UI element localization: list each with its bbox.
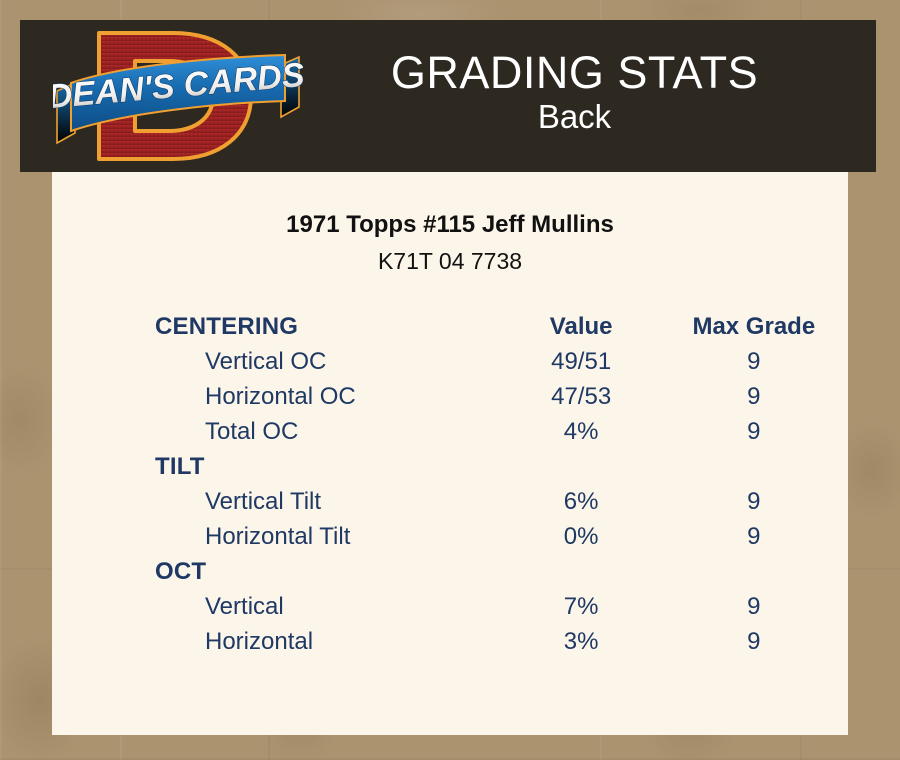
stat-max-grade: 9 — [660, 484, 848, 519]
stat-label: Vertical — [52, 589, 503, 624]
stat-value: 0% — [503, 519, 660, 554]
card-serial-number: K71T 04 7738 — [52, 248, 848, 275]
stat-value: 7% — [503, 589, 660, 624]
content-panel: 1971 Topps #115 Jeff Mullins K71T 04 773… — [52, 172, 848, 735]
section-header-row: OCT — [52, 554, 848, 589]
header-bar: DEAN'S CARDS GRADING STATS Back — [20, 20, 876, 172]
stat-value: 4% — [503, 414, 660, 449]
stat-label: Vertical Tilt — [52, 484, 503, 519]
column-header-value: Value — [503, 309, 660, 344]
table-row: Horizontal OC47/539 — [52, 379, 848, 414]
stat-value: 3% — [503, 624, 660, 659]
stat-label: Horizontal — [52, 624, 503, 659]
section-title: CENTERING — [52, 309, 503, 344]
table-row: Vertical Tilt6%9 — [52, 484, 848, 519]
stat-max-grade: 9 — [660, 379, 848, 414]
stat-label: Vertical OC — [52, 344, 503, 379]
grading-stats-table: CENTERINGValueMax GradeVertical OC49/519… — [52, 309, 848, 659]
stat-max-grade: 9 — [660, 589, 848, 624]
header-title-block: GRADING STATS Back — [303, 49, 876, 143]
table-row: Total OC4%9 — [52, 414, 848, 449]
stat-max-grade: 9 — [660, 414, 848, 449]
stat-label: Horizontal Tilt — [52, 519, 503, 554]
table-row: Horizontal Tilt0%9 — [52, 519, 848, 554]
section-title: OCT — [52, 554, 503, 589]
section-spacer-value — [503, 554, 660, 589]
section-spacer-grade — [660, 554, 848, 589]
section-header-row: CENTERINGValueMax Grade — [52, 309, 848, 344]
table-row: Horizontal3%9 — [52, 624, 848, 659]
stat-value: 6% — [503, 484, 660, 519]
stat-max-grade: 9 — [660, 344, 848, 379]
stat-value: 47/53 — [503, 379, 660, 414]
card-title: 1971 Topps #115 Jeff Mullins — [52, 211, 848, 239]
table-row: Vertical OC49/519 — [52, 344, 848, 379]
section-spacer-value — [503, 449, 660, 484]
stat-value: 49/51 — [503, 344, 660, 379]
page-title: GRADING STATS — [303, 49, 846, 96]
section-title: TILT — [52, 449, 503, 484]
page-subtitle: Back — [303, 96, 846, 139]
stat-max-grade: 9 — [660, 624, 848, 659]
table-row: Vertical7%9 — [52, 589, 848, 624]
section-spacer-grade — [660, 449, 848, 484]
section-header-row: TILT — [52, 449, 848, 484]
stat-label: Horizontal OC — [52, 379, 503, 414]
column-header-max-grade: Max Grade — [660, 309, 848, 344]
deans-cards-logo: DEAN'S CARDS — [53, 21, 303, 171]
stat-label: Total OC — [52, 414, 503, 449]
logo-graphic: DEAN'S CARDS — [53, 21, 303, 171]
stat-max-grade: 9 — [660, 519, 848, 554]
